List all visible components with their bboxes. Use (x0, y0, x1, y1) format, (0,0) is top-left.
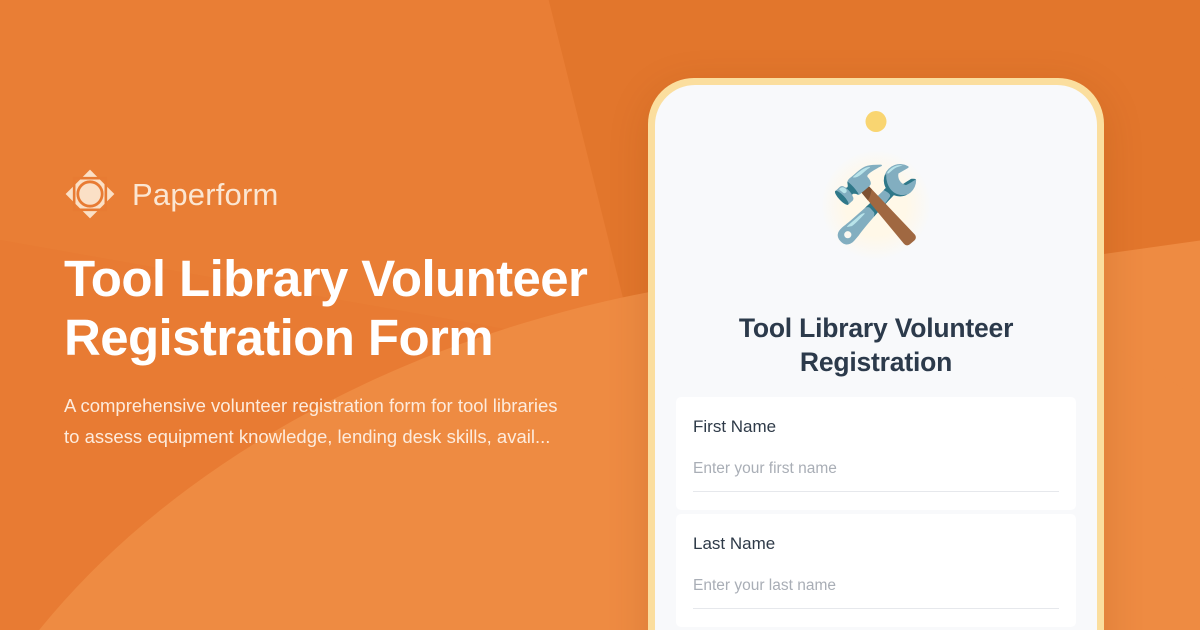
form-fields: First Name Enter your first name Last Na… (676, 397, 1076, 630)
form-field-last-name[interactable]: Last Name Enter your last name (676, 514, 1076, 627)
brand-name: Paperform (132, 179, 279, 210)
field-placeholder: Enter your first name (693, 460, 837, 477)
form-title: Tool Library Volunteer Registration (689, 311, 1063, 380)
first-name-input[interactable]: Enter your first name (693, 460, 1059, 492)
field-placeholder: Enter your last name (693, 577, 836, 594)
page-title: Tool Library Volunteer Registration Form (64, 250, 604, 367)
field-label: First Name (693, 418, 1059, 437)
page-description: A comprehensive volunteer registration f… (64, 391, 564, 452)
hammer-and-wrench-icon: 🛠️ (822, 151, 930, 259)
hero-content: Paperform Tool Library Volunteer Registr… (64, 166, 624, 453)
paperform-logo-icon (64, 168, 116, 220)
og-image-canvas: Paperform Tool Library Volunteer Registr… (0, 0, 1200, 630)
form-field-first-name[interactable]: First Name Enter your first name (676, 397, 1076, 510)
brand-lockup: Paperform (64, 166, 624, 222)
field-label: Last Name (693, 535, 1059, 554)
camera-dot-icon (866, 111, 887, 132)
phone-mockup: 🛠️ Tool Library Volunteer Registration F… (648, 78, 1104, 630)
phone-screen: 🛠️ Tool Library Volunteer Registration F… (655, 85, 1097, 630)
form-emoji-container: 🛠️ (655, 151, 1097, 259)
last-name-input[interactable]: Enter your last name (693, 577, 1059, 609)
